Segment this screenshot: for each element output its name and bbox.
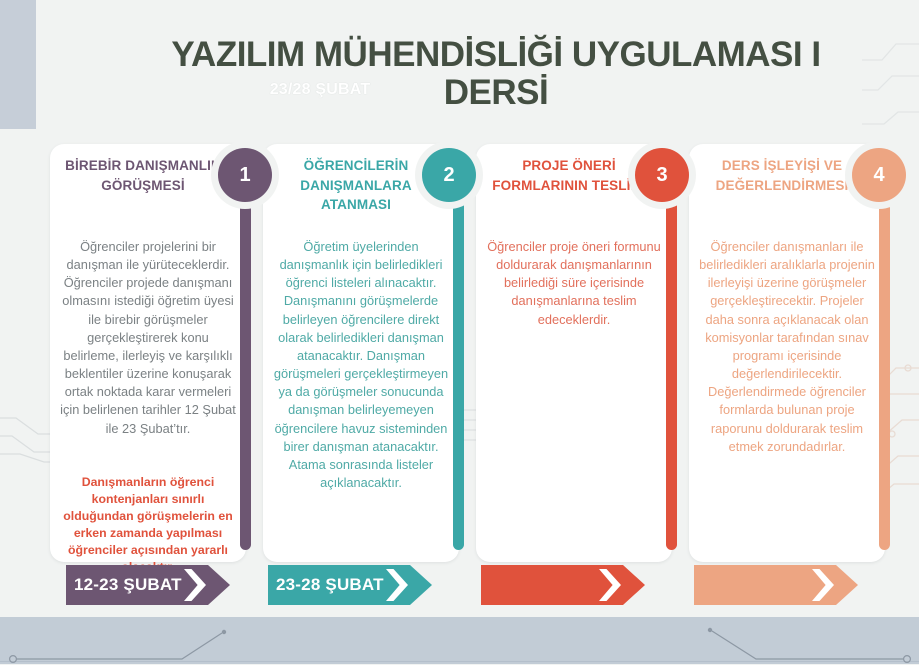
- title-line-2: DERSİ: [76, 74, 916, 112]
- step-number-1: 1: [239, 164, 250, 187]
- step-body-4: Öğrenciler danışmanları ile belirledikle…: [699, 238, 875, 456]
- page-title: YAZILIM MÜHENDİSLİĞİ UYGULAMASI I DERSİ: [76, 36, 916, 112]
- step-card-1[interactable]: BİREBİR DANIŞMANLIK GÖRÜŞMESİ Öğrenciler…: [50, 144, 246, 562]
- title-line-1: YAZILIM MÜHENDİSLİĞİ UYGULAMASI I: [171, 35, 820, 74]
- step-heading-4: DERS İŞLEYİŞİ VE DEĞERLENDİRMESİ: [697, 156, 867, 195]
- step-number-badge-1[interactable]: 1: [218, 148, 272, 202]
- ribbon-label-2: 23-28 ŞUBAT: [276, 565, 384, 605]
- step-number-4: 4: [873, 164, 884, 187]
- step-rail-1: [240, 200, 251, 550]
- step-card-2[interactable]: ÖĞRENCİLERİN DANIŞMANLARA ATANMASI Öğret…: [263, 144, 459, 562]
- step-heading-3: PROJE ÖNERİ FORMLARININ TESLİMİ: [484, 156, 654, 195]
- step-body-1: Öğrenciler projelerini bir danışman ile …: [60, 238, 236, 438]
- left-accent-strip: [0, 0, 36, 129]
- step-card-4[interactable]: DERS İŞLEYİŞİ VE DEĞERLENDİRMESİ Öğrenci…: [689, 144, 885, 562]
- slide-header: YAZILIM MÜHENDİSLİĞİ UYGULAMASI I DERSİ …: [36, 16, 919, 128]
- step-body-2: Öğretim üyelerinden danışmanlık için bel…: [273, 238, 449, 492]
- step-heading-2: ÖĞRENCİLERİN DANIŞMANLARA ATANMASI: [271, 156, 441, 215]
- step-number-badge-2[interactable]: 2: [422, 148, 476, 202]
- step-rail-3: [666, 200, 677, 550]
- bottom-circuit-left: [6, 625, 236, 665]
- step-number-2: 2: [443, 164, 454, 187]
- bottom-band: [0, 617, 919, 664]
- step-ribbon-2[interactable]: 23-28 ŞUBAT: [268, 565, 432, 605]
- step-rail-4: [879, 200, 890, 550]
- bottom-circuit-right: [700, 625, 915, 665]
- header-subtitle: 23/28 ŞUBAT: [240, 81, 400, 99]
- slide-canvas: YAZILIM MÜHENDİSLİĞİ UYGULAMASI I DERSİ …: [0, 0, 919, 664]
- step-number-badge-3[interactable]: 3: [635, 148, 689, 202]
- step-ribbon-4[interactable]: [694, 565, 858, 605]
- step-body-3: Öğrenciler proje öneri formunu doldurara…: [486, 238, 662, 329]
- step-rail-2: [453, 200, 464, 550]
- step-ribbon-1[interactable]: 12-23 ŞUBAT: [66, 565, 230, 605]
- ribbon-label-1: 12-23 ŞUBAT: [74, 565, 182, 605]
- step-card-3[interactable]: PROJE ÖNERİ FORMLARININ TESLİMİ Öğrencil…: [476, 144, 672, 562]
- step-ribbon-3[interactable]: [481, 565, 645, 605]
- step-number-badge-4[interactable]: 4: [852, 148, 906, 202]
- step-heading-1: BİREBİR DANIŞMANLIK GÖRÜŞMESİ: [58, 156, 228, 195]
- step-note-1: Danışmanların öğrenci kontenjanları sını…: [60, 474, 236, 576]
- step-number-3: 3: [656, 164, 667, 187]
